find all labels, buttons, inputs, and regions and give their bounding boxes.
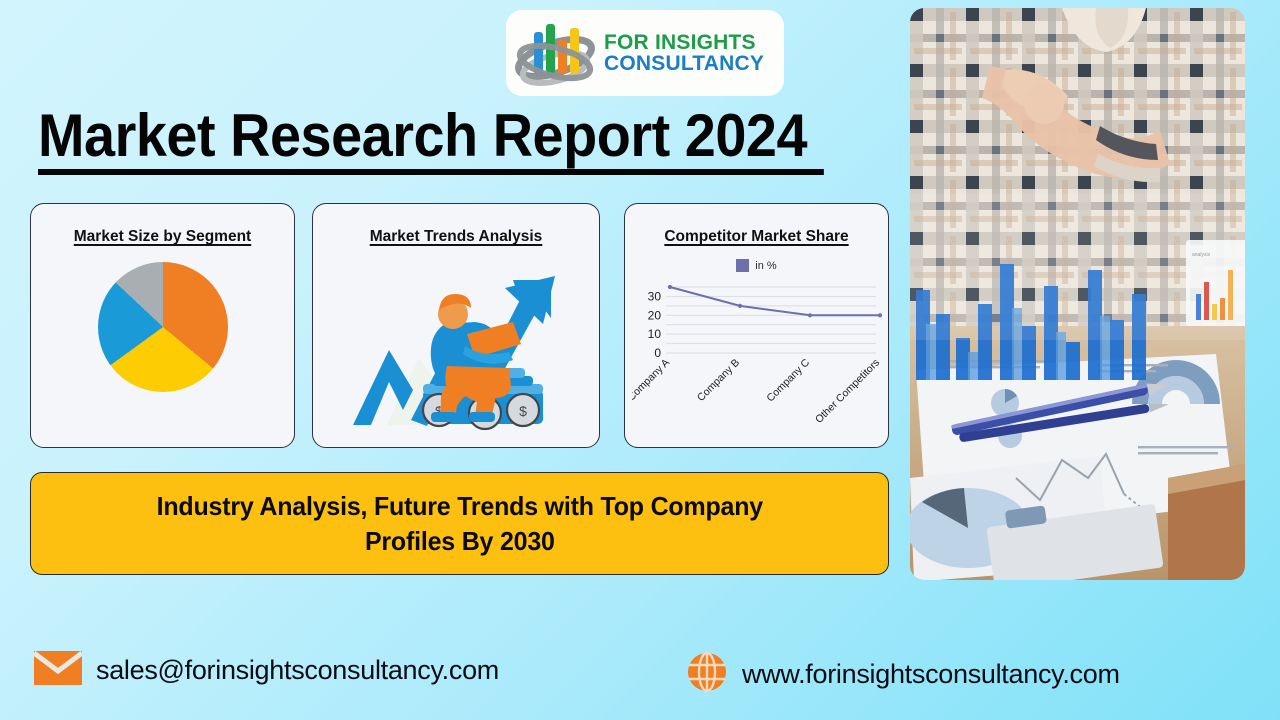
chart-legend: in % bbox=[625, 259, 888, 272]
footer-contacts: sales@forinsightsconsultancy.com www.for… bbox=[0, 645, 1280, 715]
banner-line-1: Industry Analysis, Future Trends with To… bbox=[156, 491, 762, 522]
banner-line-2: Profiles By 2030 bbox=[365, 526, 555, 557]
legend-swatch-in-percent bbox=[736, 259, 749, 272]
logo-line-consultancy: CONSULTANCY bbox=[604, 53, 764, 74]
card-competitor-market-share: Competitor Market Share in % 0102030 Com… bbox=[624, 203, 889, 448]
line-chart: 0102030 Company ACompany BCompany COther… bbox=[632, 275, 882, 425]
market-trends-illustration: $ $ $ bbox=[313, 250, 599, 435]
logo-line-for-insights: FOR INSIGHTS bbox=[604, 32, 764, 53]
website-text: www.forinsightsconsultancy.com bbox=[742, 659, 1120, 690]
svg-text:Other Competitors: Other Competitors bbox=[812, 357, 881, 425]
contact-email[interactable]: sales@forinsightsconsultancy.com bbox=[34, 651, 499, 690]
pie-chart bbox=[31, 262, 294, 392]
svg-text:20: 20 bbox=[647, 308, 661, 322]
card-title-market-size: Market Size by Segment bbox=[31, 228, 294, 246]
business-analytics-photo: analysis bbox=[910, 8, 1245, 580]
svg-text:10: 10 bbox=[647, 327, 661, 341]
pie-chart-graphic bbox=[98, 262, 228, 392]
svg-text:Company A: Company A bbox=[632, 357, 672, 404]
svg-text:30: 30 bbox=[647, 289, 661, 303]
card-market-trends-analysis: Market Trends Analysis $ $ $ bbox=[312, 203, 600, 448]
card-title-market-trends: Market Trends Analysis bbox=[313, 228, 599, 246]
email-text: sales@forinsightsconsultancy.com bbox=[96, 655, 499, 686]
card-title-competitor-share: Competitor Market Share bbox=[625, 228, 888, 246]
svg-text:Company C: Company C bbox=[764, 356, 812, 404]
envelope-icon bbox=[34, 651, 82, 690]
logo-wordmark: FOR INSIGHTS CONSULTANCY bbox=[604, 32, 764, 74]
card-market-size-by-segment: Market Size by Segment bbox=[30, 203, 295, 448]
subtitle-banner: Industry Analysis, Future Trends with To… bbox=[30, 472, 889, 575]
bar-chart-swoosh-logo-icon bbox=[512, 16, 598, 90]
svg-text:Company B: Company B bbox=[694, 357, 741, 404]
contact-website[interactable]: www.forinsightsconsultancy.com bbox=[686, 651, 1120, 698]
globe-icon bbox=[686, 651, 728, 698]
svg-text:$: $ bbox=[519, 403, 527, 419]
page-title: Market Research Report 2024 bbox=[38, 104, 824, 175]
svg-text:0: 0 bbox=[654, 346, 661, 360]
company-logo: FOR INSIGHTS CONSULTANCY bbox=[506, 10, 784, 96]
legend-label-in-percent: in % bbox=[755, 260, 776, 272]
